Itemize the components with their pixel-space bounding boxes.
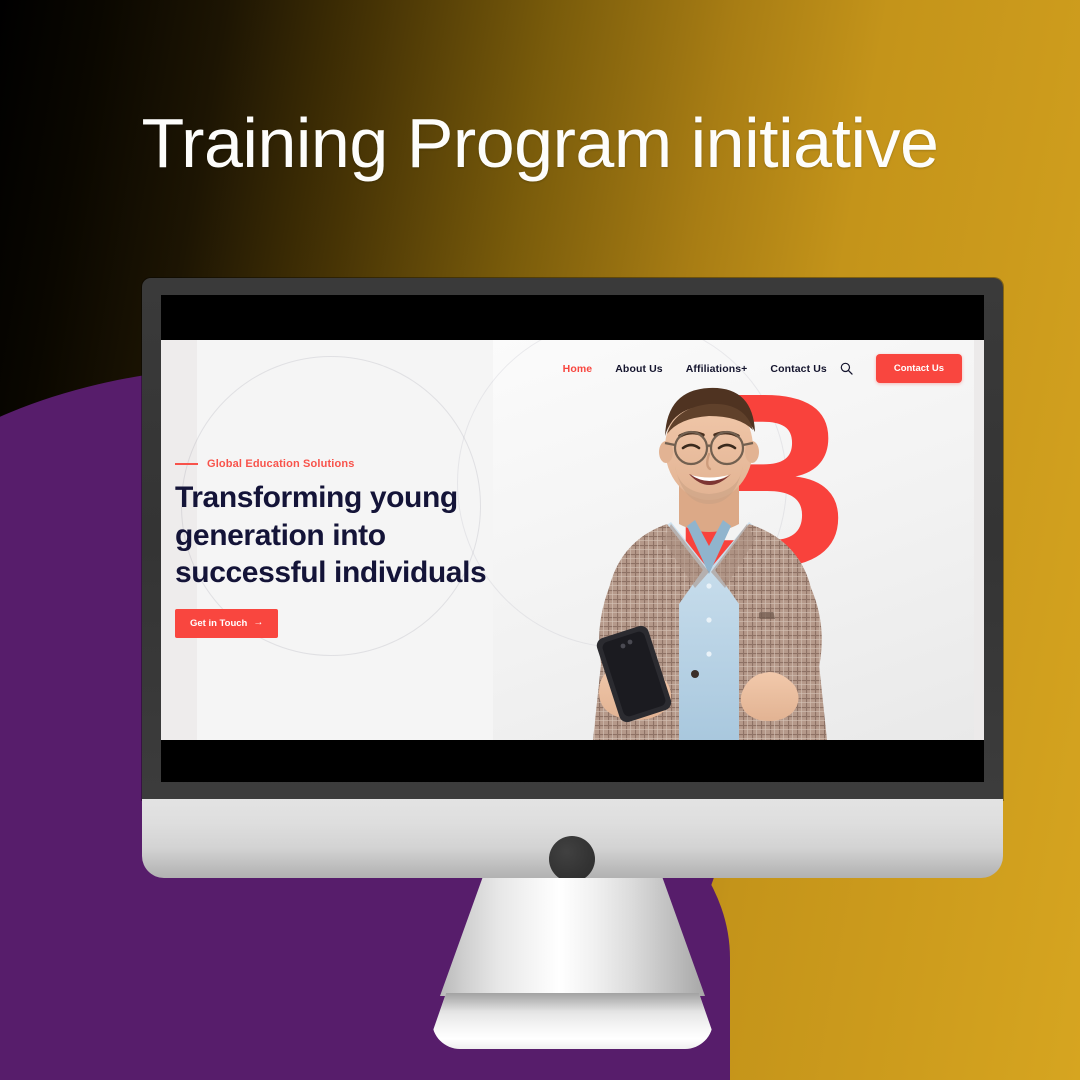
monitor-chin bbox=[142, 799, 1003, 878]
monitor-camera-dot-icon bbox=[549, 836, 595, 882]
get-in-touch-button[interactable]: Get in Touch → bbox=[175, 609, 278, 638]
site-navigation[interactable]: Home About Us Affiliations+ Contact Us C… bbox=[563, 354, 962, 383]
website-viewport: B bbox=[161, 340, 984, 740]
eyebrow-dash-icon bbox=[175, 463, 198, 465]
hero-person-image bbox=[563, 374, 853, 740]
hero-heading: Transforming young generation into succe… bbox=[175, 479, 535, 592]
nav-link-about-us[interactable]: About Us bbox=[615, 363, 662, 375]
monitor-device: B bbox=[142, 278, 1003, 879]
hero-heading-line-3: successful individuals bbox=[175, 554, 535, 592]
page-title: Training Program initiative bbox=[0, 107, 1080, 181]
nav-link-affiliations[interactable]: Affiliations+ bbox=[686, 363, 748, 375]
monitor-stand-neck bbox=[440, 878, 705, 996]
poster-stage: Training Program initiative B bbox=[0, 0, 1080, 1080]
hero-eyebrow: Global Education Solutions bbox=[175, 458, 535, 470]
screen-letterbox-bottom bbox=[161, 740, 984, 782]
hero-heading-line-2: generation into bbox=[175, 517, 535, 555]
nav-contact-us-button[interactable]: Contact Us bbox=[876, 354, 962, 383]
hero-eyebrow-text: Global Education Solutions bbox=[207, 458, 355, 470]
monitor-stand-base-shadow bbox=[432, 993, 713, 1011]
get-in-touch-label: Get in Touch bbox=[190, 618, 247, 629]
search-icon[interactable] bbox=[840, 362, 853, 375]
hero-text-block: Global Education Solutions Transforming … bbox=[175, 458, 535, 638]
arrow-right-icon: → bbox=[253, 618, 263, 628]
nav-link-contact-us[interactable]: Contact Us bbox=[770, 363, 826, 375]
hero-heading-line-1: Transforming young bbox=[175, 479, 535, 517]
monitor-screen: B bbox=[161, 295, 984, 782]
site-right-strip bbox=[974, 340, 984, 740]
screen-letterbox-top bbox=[161, 295, 984, 340]
monitor-bezel: B bbox=[142, 278, 1003, 800]
nav-link-home[interactable]: Home bbox=[563, 363, 593, 375]
